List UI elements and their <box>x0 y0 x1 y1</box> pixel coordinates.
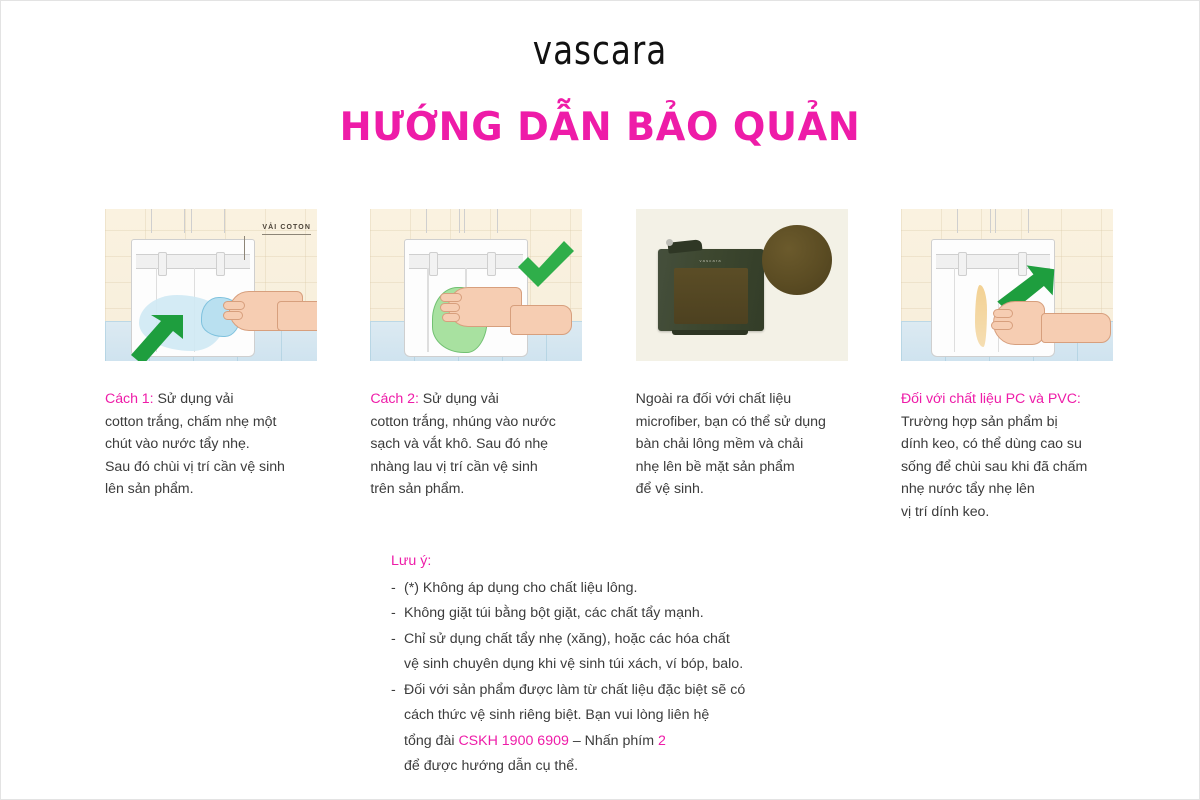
notes-block: Lưu ý: - (*) Không áp dụng cho chất liệu… <box>391 549 951 780</box>
brand-logo-wrapper: vascara <box>1 31 1199 71</box>
coton-label: VẢI COTON <box>262 224 311 235</box>
caption-line-3: Sau đó chùi vị trí cần vệ sinh <box>105 459 285 475</box>
hotline-middle: – Nhấn phím <box>569 733 658 749</box>
bag-tab-left <box>158 252 167 276</box>
caption-heading-cach-1: Cách 1: <box>105 391 154 407</box>
caption-cach-2: Cách 2: Sử dụng vải cotton trắng, nhúng … <box>370 388 582 501</box>
caption-line-1: cotton trắng, chấm nhẹ một <box>105 414 276 430</box>
bag-handle-left <box>957 209 991 233</box>
bag-crease-1 <box>954 268 955 352</box>
instruction-columns: VẢI COTON Cách 1: Sử dụng vải cotton trắ… <box>105 209 1113 524</box>
bag-tab-right <box>216 252 225 276</box>
note-item-2: - Không giặt túi bằng bột giặt, các chất… <box>391 601 951 627</box>
caption-line-4: trên sản phẩm. <box>370 481 464 497</box>
note-line-1: vệ sinh chuyên dụng khi vệ sinh túi xách… <box>404 656 743 672</box>
note-dash: - <box>391 678 404 704</box>
caption-line-0: Sử dụng vải <box>154 391 234 407</box>
hand-finger-2 <box>223 311 243 320</box>
bag-handle-right <box>995 209 1029 233</box>
bag-handle-right <box>191 209 225 233</box>
note-text: Không giặt túi bằng bột giặt, các chất t… <box>404 601 951 627</box>
note-item-3: - Chỉ sử dụng chất tẩy nhẹ (xăng), hoặc … <box>391 627 951 678</box>
coton-label-leader <box>244 236 245 260</box>
caption-line-0: Sử dụng vải <box>419 391 499 407</box>
hand-forearm <box>510 305 572 335</box>
caption-line-5: vị trí dính keo. <box>901 504 989 520</box>
bag-tab-left <box>429 252 438 276</box>
bag-handle-left <box>426 209 460 233</box>
hand-forearm <box>277 301 317 331</box>
caption-line-3: sống để chùi sau khi đã chấm <box>901 459 1087 475</box>
caption-line-4: để vệ sinh. <box>636 481 704 497</box>
hotline-key: 2 <box>658 733 666 749</box>
bag-tab-left <box>958 252 967 276</box>
wallet-zipper-pull <box>666 239 673 246</box>
caption-line-2: dính keo, có thể dùng cao su <box>901 436 1082 452</box>
hand-knuckle-2 <box>991 321 1013 330</box>
instruction-column-microfiber: vascara Ngoài ra đối với chất liệu micro… <box>636 209 848 524</box>
microfiber-wallet: vascara <box>658 249 764 331</box>
hand-finger-1 <box>440 293 462 302</box>
bag-crease-1 <box>427 268 428 352</box>
hand-finger-1 <box>223 301 245 310</box>
hand-finger-2 <box>440 303 460 312</box>
note-line-1: cách thức vệ sinh riêng biệt. Bạn vui lò… <box>404 707 709 723</box>
instruction-column-cach-1: VẢI COTON Cách 1: Sử dụng vải cotton trắ… <box>105 209 317 524</box>
note-dash: - <box>391 601 404 627</box>
hand-finger-3 <box>442 313 460 322</box>
instruction-column-cach-2: Cách 2: Sử dụng vải cotton trắng, nhúng … <box>370 209 582 524</box>
note-dash: - <box>391 627 404 653</box>
caption-line-1: microfiber, bạn có thể sử dụng <box>636 414 826 430</box>
caption-line-1: Trường hợp sản phẩm bị <box>901 414 1058 430</box>
notes-title: Lưu ý: <box>391 549 951 575</box>
care-instructions-page: vascara HƯỚNG DẪN BẢO QUẢN <box>0 0 1200 800</box>
caption-heading-cach-2: Cách 2: <box>370 391 419 407</box>
note-text: Đối với sản phẩm được làm từ chất liệu đ… <box>404 678 951 780</box>
note-dash: - <box>391 576 404 602</box>
wallet-brand-stamp: vascara <box>658 258 764 263</box>
caption-line-3: nhẹ lên bề mặt sản phẩm <box>636 459 795 475</box>
page-title: HƯỚNG DẪN BẢO QUẢN <box>13 105 1187 150</box>
bag-handle-right <box>464 209 498 233</box>
microfiber-color-swatch <box>762 225 832 295</box>
note-item-1: - (*) Không áp dụng cho chất liệu lông. <box>391 576 951 602</box>
caption-line-2: bàn chải lông mềm và chải <box>636 436 804 452</box>
note-last-line: để được hướng dẫn cụ thể. <box>404 758 578 774</box>
caption-heading-pc-pvc: Đối với chất liệu PC và PVC: <box>901 391 1081 407</box>
green-checkmark <box>516 239 576 294</box>
wallet-microfiber-panel <box>674 268 748 324</box>
caption-line-4: lên sản phẩm. <box>105 481 193 497</box>
illustration-microfiber: vascara <box>636 209 848 361</box>
caption-line-1: cotton trắng, nhúng vào nước <box>370 414 555 430</box>
note-text: Chỉ sử dụng chất tẩy nhẹ (xăng), hoặc cá… <box>404 627 951 678</box>
caption-pc-pvc: Đối với chất liệu PC và PVC: Trường hợp … <box>901 388 1113 524</box>
illustration-pc-pvc <box>901 209 1113 361</box>
instruction-column-pc-pvc: Đối với chất liệu PC và PVC: Trường hợp … <box>901 209 1113 524</box>
caption-line-0: Ngoài ra đối với chất liệu <box>636 391 791 407</box>
note-text: (*) Không áp dụng cho chất liệu lông. <box>404 576 951 602</box>
wallet-base <box>672 330 748 335</box>
glue-stain <box>975 285 987 347</box>
caption-line-2: chút vào nước tẩy nhẹ. <box>105 436 250 452</box>
caption-microfiber: Ngoài ra đối với chất liệu microfiber, b… <box>636 388 848 501</box>
bag-tab-right <box>487 252 496 276</box>
bag-handle-left <box>151 209 185 233</box>
illustration-cach-2 <box>370 209 582 361</box>
hand-knuckle-1 <box>993 309 1013 318</box>
caption-cach-1: Cách 1: Sử dụng vải cotton trắng, chấm n… <box>105 388 317 501</box>
caption-line-3: nhàng lau vị trí cần vệ sinh <box>370 459 537 475</box>
note-line-0: Chỉ sử dụng chất tẩy nhẹ (xăng), hoặc cá… <box>404 631 730 647</box>
hotline-number[interactable]: CSKH 1900 6909 <box>458 733 568 749</box>
caption-line-2: sạch và vắt khô. Sau đó nhẹ <box>370 436 548 452</box>
caption-line-4: nhẹ nước tẩy nhẹ lên <box>901 481 1035 497</box>
hand-forearm <box>1041 313 1111 343</box>
illustration-cach-1: VẢI COTON <box>105 209 317 361</box>
hotline-prefix: tổng đài <box>404 733 458 749</box>
note-line-0: Đối với sản phẩm được làm từ chất liệu đ… <box>404 682 745 698</box>
green-arrow-up-right <box>127 309 189 361</box>
note-item-4: - Đối với sản phẩm được làm từ chất liệu… <box>391 678 951 780</box>
vascara-logo: vascara <box>533 27 667 74</box>
product-photo-background: vascara <box>636 209 848 361</box>
